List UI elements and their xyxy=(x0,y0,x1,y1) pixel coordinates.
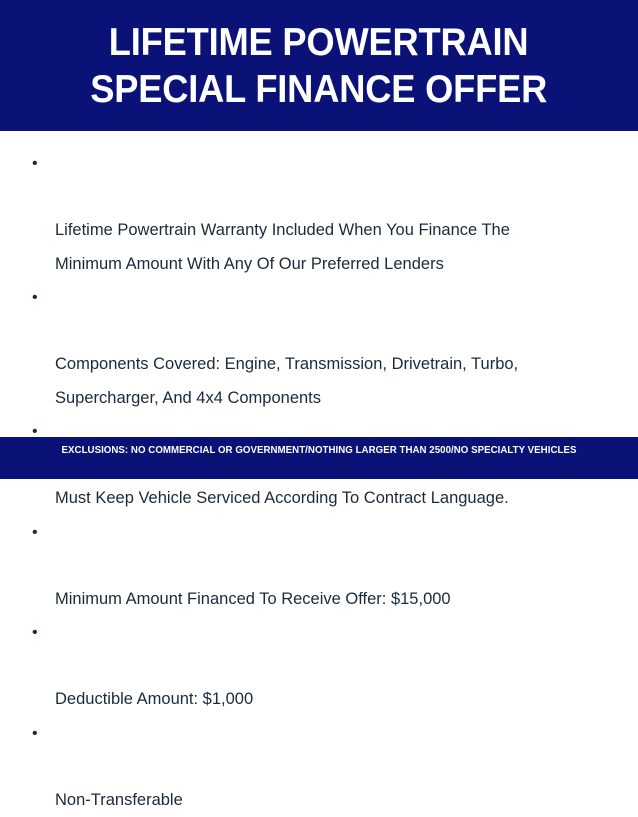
list-item-text: Must Keep Vehicle Serviced According To … xyxy=(55,489,509,507)
page-title-line-1: LIFETIME POWERTRAIN xyxy=(109,19,529,66)
bullet-dot-icon: • xyxy=(32,281,38,315)
bullet-dot-icon: • xyxy=(32,516,38,550)
offer-slide: LIFETIME POWERTRAIN SPECIAL FINANCE OFFE… xyxy=(0,0,638,479)
bullet-dot-icon: • xyxy=(32,717,38,751)
list-item: • Components Covered: Engine, Transmissi… xyxy=(24,281,614,415)
footer-band: EXCLUSIONS: NO COMMERCIAL OR GOVERNMENT/… xyxy=(0,437,638,479)
list-item-text: Components Covered: Engine, Transmission… xyxy=(55,355,518,407)
list-item-text: Lifetime Powertrain Warranty Included Wh… xyxy=(55,221,510,273)
list-item-text: Minimum Amount Financed To Receive Offer… xyxy=(55,590,451,608)
offer-details-list: • Lifetime Powertrain Warranty Included … xyxy=(24,147,614,817)
exclusions-text: EXCLUSIONS: NO COMMERCIAL OR GOVERNMENT/… xyxy=(16,444,622,458)
list-item-text: Deductible Amount: $1,000 xyxy=(55,690,253,708)
body-area: • Lifetime Powertrain Warranty Included … xyxy=(0,131,638,437)
list-item: • Lifetime Powertrain Warranty Included … xyxy=(24,147,614,281)
bullet-dot-icon: • xyxy=(32,147,38,181)
list-item: • Non-Transferable xyxy=(24,717,614,817)
bullet-dot-icon: • xyxy=(32,616,38,650)
page-title-line-2: SPECIAL FINANCE OFFER xyxy=(91,66,548,113)
list-item: • Deductible Amount: $1,000 xyxy=(24,616,614,717)
list-item: • Minimum Amount Financed To Receive Off… xyxy=(24,516,614,617)
list-item-text: Non-Transferable xyxy=(55,791,183,809)
header-band: LIFETIME POWERTRAIN SPECIAL FINANCE OFFE… xyxy=(0,0,638,131)
